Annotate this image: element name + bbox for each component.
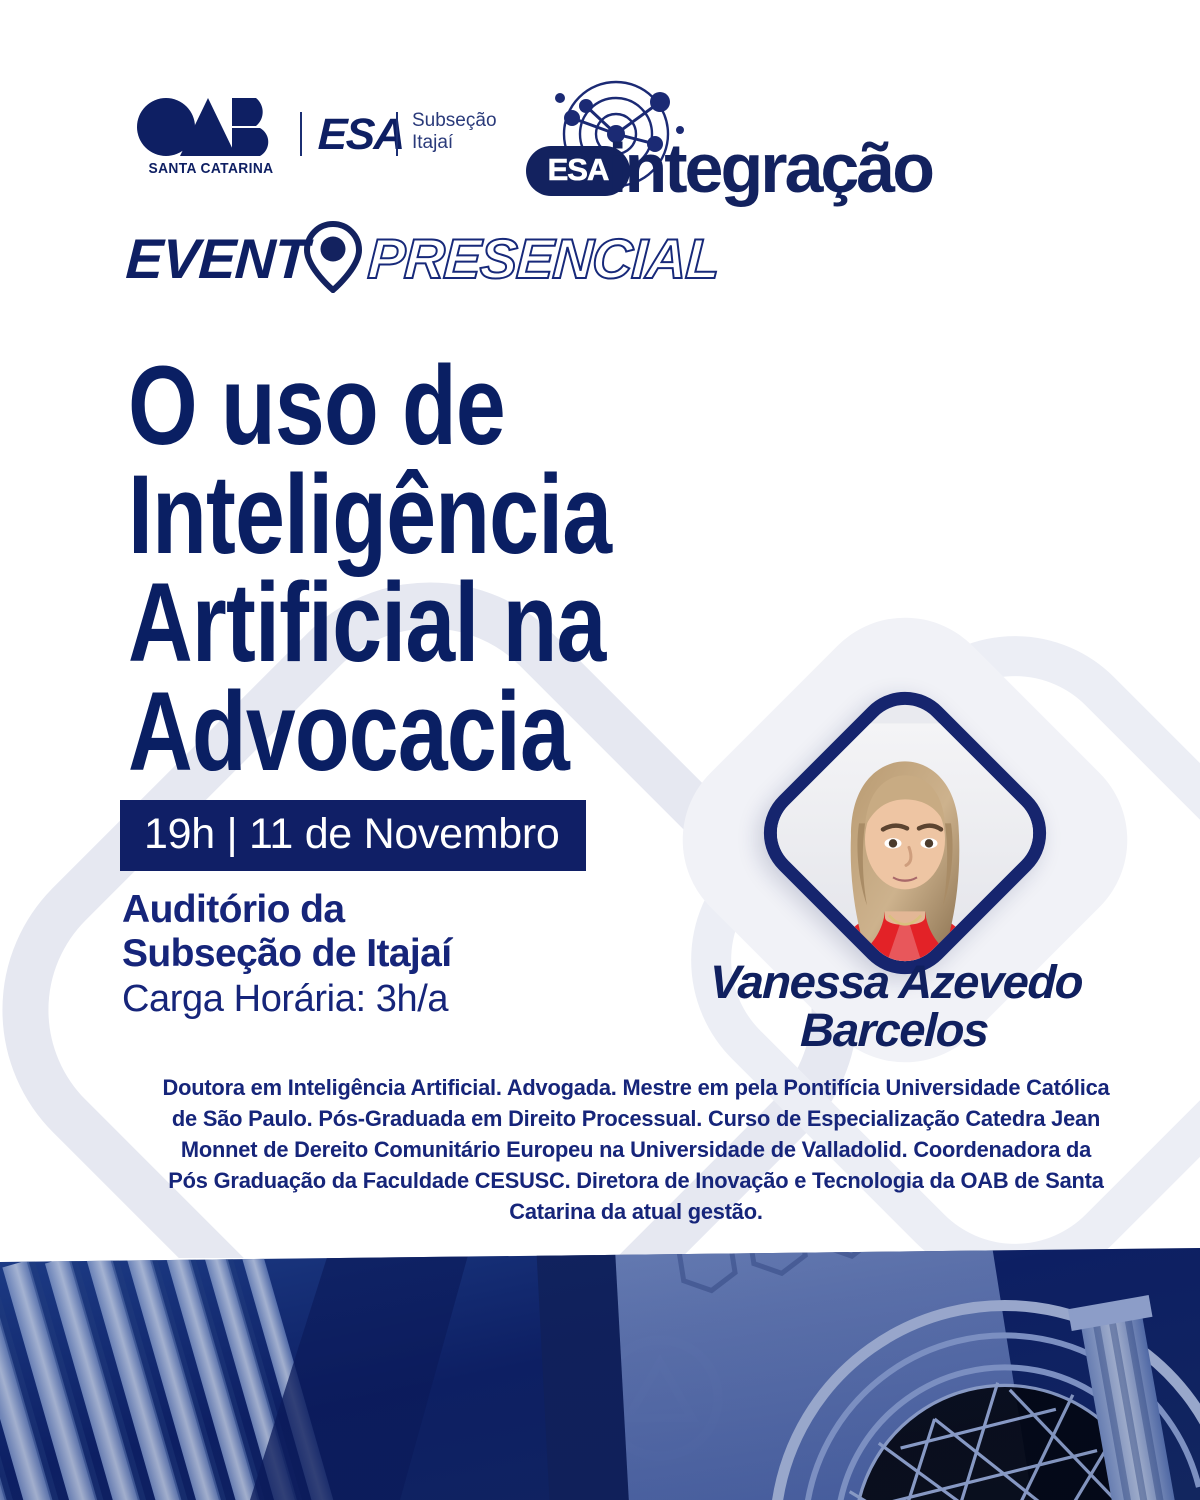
esa-integracao-logo: ESA integração bbox=[520, 72, 940, 212]
evento-label: EVENT bbox=[125, 231, 310, 287]
esa-wordmark: ESA bbox=[317, 110, 405, 160]
footer-image-strip bbox=[0, 1248, 1200, 1500]
event-poster: SANTA CATARINA ESA Subseção Itajaí bbox=[0, 0, 1200, 1500]
logo-divider-1 bbox=[300, 112, 302, 156]
venue-line-1: Auditório da bbox=[122, 888, 642, 932]
svg-text:ESA: ESA bbox=[548, 152, 609, 187]
esa-integracao-icon: ESA integração bbox=[520, 72, 940, 212]
date-time-badge: 19h | 11 de Novembro bbox=[120, 800, 586, 871]
venue-block: Auditório da Subseção de Itajaí Carga Ho… bbox=[122, 888, 642, 1022]
speaker-name-line-1: Vanessa Azevedo bbox=[660, 958, 1132, 1006]
esa-subsection-line1: Subseção bbox=[412, 110, 497, 132]
speaker-name-line-2: Barcelos bbox=[658, 1006, 1130, 1054]
courthouse-columns-icon bbox=[0, 1248, 1200, 1500]
esa-subsection: Subseção Itajaí bbox=[412, 110, 497, 155]
oab-logo-icon bbox=[136, 96, 286, 160]
venue-line-2: Subseção de Itajaí bbox=[122, 932, 642, 976]
event-type-row: EVENT PRESENCIAL bbox=[126, 228, 719, 290]
logo-divider-2 bbox=[396, 112, 398, 156]
speaker-photo bbox=[790, 718, 1020, 948]
presencial-label: PRESENCIAL bbox=[366, 231, 720, 287]
photo-diamond-frame bbox=[742, 670, 1067, 995]
svg-text:integração: integração bbox=[608, 129, 933, 207]
title-line-1: O uso de Inteligência bbox=[128, 343, 611, 577]
workload-label: Carga Horária: 3h/a bbox=[122, 977, 642, 1022]
esa-subsection-line2: Itajaí bbox=[412, 132, 497, 154]
speaker-name: Vanessa Azevedo Barcelos bbox=[658, 958, 1131, 1054]
location-pin-icon bbox=[304, 221, 362, 298]
oab-logo: SANTA CATARINA bbox=[136, 96, 286, 192]
speaker-portrait-illustration bbox=[777, 723, 1033, 979]
logo-header: SANTA CATARINA ESA Subseção Itajaí bbox=[0, 78, 1200, 198]
oab-subtitle: SANTA CATARINA bbox=[142, 160, 280, 177]
speaker-bio: Doutora em Inteligência Artificial. Advo… bbox=[161, 1072, 1112, 1227]
